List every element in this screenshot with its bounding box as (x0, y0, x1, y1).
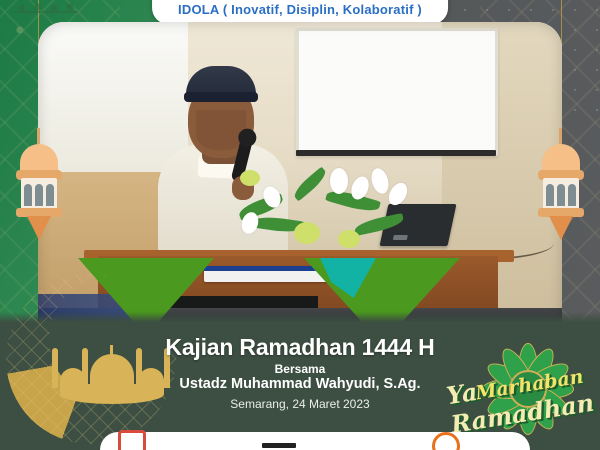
ornament-icon-top-left (14, 2, 78, 14)
ramadhan-event-poster: IDOLA ( Inovatif, Disiplin, Kolaboratif … (0, 0, 600, 450)
bottom-white-sheet (100, 432, 530, 450)
tagline-text: IDOLA ( Inovatif, Disiplin, Kolaboratif … (178, 2, 422, 17)
yellow-flower (240, 170, 260, 186)
flower-arrangement (234, 160, 414, 256)
flower-petal (369, 166, 392, 195)
lantern-icon-right (532, 128, 590, 248)
leaf (353, 213, 405, 236)
red-square-icon (118, 430, 146, 450)
tagline-pill: IDOLA ( Inovatif, Disiplin, Kolaboratif … (152, 0, 448, 24)
lantern-arch (568, 184, 576, 206)
marhaban-badge: Marhaban Ya Ramadhan (448, 322, 598, 450)
peci-cap-brim (184, 92, 258, 102)
lantern-tip (549, 216, 573, 240)
whiteboard-tray (296, 150, 496, 156)
lantern-base (16, 208, 62, 217)
lantern-arch (546, 184, 554, 206)
flower-petal (385, 180, 411, 209)
lantern-tip (27, 216, 51, 240)
whiteboard (296, 28, 498, 156)
lantern-base (538, 208, 584, 217)
yellow-flower (338, 230, 360, 248)
footer-banner: Kajian Ramadhan 1444 H Bersama Ustadz Mu… (0, 322, 600, 450)
lantern-icon-left (10, 128, 68, 248)
lantern-arch (35, 184, 43, 206)
flower-petal (330, 168, 348, 194)
dark-bar-icon (262, 443, 296, 448)
lantern-arch (557, 184, 565, 206)
leaf (291, 167, 329, 202)
lantern-arch (46, 184, 54, 206)
lantern-arch (24, 184, 32, 206)
yellow-flower (294, 222, 320, 244)
